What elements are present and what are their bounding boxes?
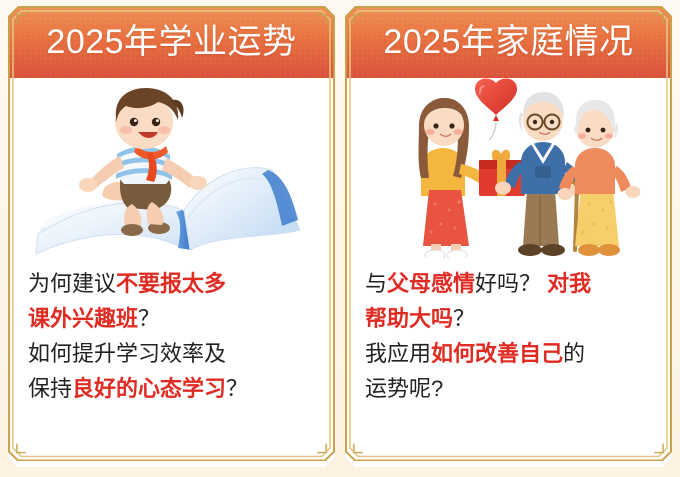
card-content: 2025年家庭情况: [345, 6, 672, 467]
question-line: 运势呢?: [365, 371, 652, 406]
card-illustration: [345, 78, 672, 258]
plain-text: 与: [365, 271, 387, 296]
card-title: 2025年学业运势: [46, 25, 296, 59]
highlight-text: 对我: [547, 271, 591, 296]
plain-text: ？: [453, 306, 475, 331]
plain-text: 如何提升学习效率及: [28, 341, 226, 366]
question-line: 保持良好的心态学习？: [28, 371, 315, 406]
highlight-text: 良好的心态学习: [72, 376, 226, 401]
plain-text: 我应用: [365, 341, 431, 366]
question-line: 与父母感情好吗？ 对我: [365, 266, 652, 301]
highlight-text: 父母感情: [387, 271, 475, 296]
card-content: 2025年学业运势: [8, 6, 335, 467]
card-title: 2025年家庭情况: [383, 25, 633, 59]
plain-text: 的: [563, 341, 585, 366]
fortune-card[interactable]: 2025年学业运势: [8, 6, 335, 467]
question-line: 我应用如何改善自己的: [365, 336, 652, 371]
child-reading-on-open-book-icon: [32, 78, 312, 258]
card-question-text: 为何建议不要报太多 课外兴趣班？ 如何提升学习效率及 保持良好的心态学习？: [8, 258, 335, 406]
plain-text: ？: [138, 306, 160, 331]
fortune-card[interactable]: 2025年家庭情况: [345, 6, 672, 467]
plain-text: 好吗？: [475, 271, 541, 296]
highlight-text: 课外兴趣班: [28, 306, 138, 331]
card-illustration: [8, 78, 335, 258]
plain-text: ？: [226, 376, 248, 401]
question-line: 为何建议不要报太多: [28, 266, 315, 301]
plain-text: 保持: [28, 376, 72, 401]
card-question-text: 与父母感情好吗？ 对我 帮助大吗？ 我应用如何改善自己的 运势呢?: [345, 258, 672, 406]
plain-text: 运势呢?: [365, 376, 443, 401]
question-line: 帮助大吗？: [365, 301, 652, 336]
plain-text: 为何建议: [28, 271, 116, 296]
card-header-banner: 2025年学业运势: [8, 6, 335, 78]
highlight-text: 帮助大吗: [365, 306, 453, 331]
card-header-banner: 2025年家庭情况: [345, 6, 672, 78]
daughter-giving-gift-to-elderly-parents-icon: [369, 78, 649, 258]
question-line: 如何提升学习效率及: [28, 336, 315, 371]
question-line: 课外兴趣班？: [28, 301, 315, 336]
highlight-text: 如何改善自己: [431, 341, 563, 366]
fortune-cards-board: 2025年学业运势: [0, 0, 680, 477]
highlight-text: 不要报太多: [116, 271, 226, 296]
